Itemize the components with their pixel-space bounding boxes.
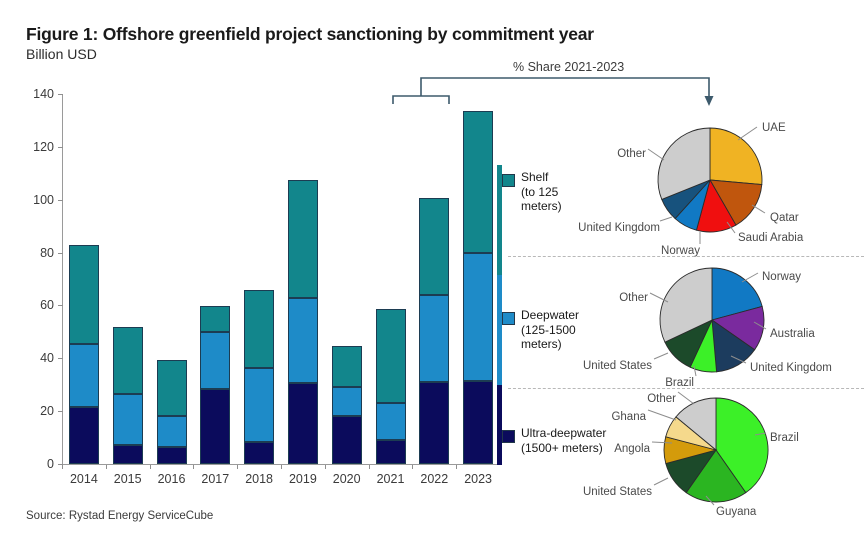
bar-segment-shelf[interactable] xyxy=(332,346,362,387)
y-axis-tick-label: 80 xyxy=(20,246,54,260)
pie-leader-line xyxy=(727,222,735,233)
pie-leader-line xyxy=(648,410,676,420)
legend-swatch xyxy=(502,430,515,443)
pie-leader-line xyxy=(654,478,668,485)
pie-slice[interactable] xyxy=(716,398,768,493)
y-axis-tick-label: 40 xyxy=(20,351,54,365)
x-axis-tick-label: 2021 xyxy=(377,472,405,486)
pie-slice[interactable] xyxy=(712,268,762,320)
pie-slice-label: Ghana xyxy=(611,411,646,423)
y-axis-tick-label: 0 xyxy=(20,457,54,471)
legend-color-strip xyxy=(497,165,502,465)
pie-leader-line xyxy=(752,205,765,213)
pie-leader-line xyxy=(738,127,757,140)
bar-group[interactable] xyxy=(419,94,449,464)
bar-segment-shelf[interactable] xyxy=(288,180,318,297)
y-axis-tick-mark xyxy=(58,253,63,254)
bar-segment-shelf[interactable] xyxy=(113,327,143,394)
y-axis-tick-mark xyxy=(58,200,63,201)
y-axis-tick-label: 60 xyxy=(20,298,54,312)
pie-slice[interactable] xyxy=(696,180,735,232)
pie-slice[interactable] xyxy=(662,180,710,219)
x-axis-tick-mark xyxy=(325,465,326,469)
y-axis-tick-mark xyxy=(58,358,63,359)
y-axis-tick-mark xyxy=(58,147,63,148)
pie-slice[interactable] xyxy=(690,320,716,372)
annotation-label: % Share 2021-2023 xyxy=(513,60,624,74)
x-axis-tick-label: 2023 xyxy=(464,472,492,486)
x-axis-tick-label: 2016 xyxy=(158,472,186,486)
pie-slice[interactable] xyxy=(658,128,710,199)
pie-slice[interactable] xyxy=(675,180,710,230)
legend-swatch xyxy=(502,174,515,187)
pie-slice-label: United States xyxy=(583,486,652,498)
y-axis-tick-label: 140 xyxy=(20,87,54,101)
pie-slice[interactable] xyxy=(710,128,762,185)
bar-segment-ultra-deepwater[interactable] xyxy=(113,445,143,464)
pie-leader-line xyxy=(754,322,766,329)
x-axis-tick-mark xyxy=(369,465,370,469)
x-axis-tick-label: 2020 xyxy=(333,472,361,486)
pie-leader-line xyxy=(652,442,672,443)
bar-segment-shelf[interactable] xyxy=(419,198,449,295)
y-axis-line xyxy=(62,94,63,464)
pie-slice-label: Norway xyxy=(661,245,700,257)
bar-group[interactable] xyxy=(463,94,493,464)
legend-label: Shelf(to 125meters) xyxy=(521,170,616,214)
bar-group[interactable] xyxy=(157,94,187,464)
bar-group[interactable] xyxy=(332,94,362,464)
bar-segment-shelf[interactable] xyxy=(157,360,187,416)
bar-segment-shelf[interactable] xyxy=(463,111,493,253)
bar-segment-shelf[interactable] xyxy=(69,245,99,344)
pie-slice[interactable] xyxy=(710,180,762,225)
legend-swatch xyxy=(502,312,515,325)
pie-slice-label: Australia xyxy=(770,328,815,340)
bar-segment-deepwater[interactable] xyxy=(157,416,187,447)
bar-segment-deepwater[interactable] xyxy=(419,295,449,382)
bar-segment-ultra-deepwater[interactable] xyxy=(200,389,230,464)
x-axis-tick-mark xyxy=(412,465,413,469)
bar-segment-deepwater[interactable] xyxy=(332,387,362,417)
legend-label: Deepwater(125-1500meters) xyxy=(521,308,616,352)
bar-segment-ultra-deepwater[interactable] xyxy=(463,381,493,464)
bar-group[interactable] xyxy=(113,94,143,464)
x-axis-tick-label: 2018 xyxy=(245,472,273,486)
x-axis-tick-mark xyxy=(193,465,194,469)
arrow-head-icon xyxy=(705,96,714,106)
y-axis-tick-mark xyxy=(58,94,63,95)
bar-segment-ultra-deepwater[interactable] xyxy=(157,447,187,464)
pie-slice-label: United Kingdom xyxy=(750,362,832,374)
pie-slice[interactable] xyxy=(665,320,712,367)
bar-group[interactable] xyxy=(376,94,406,464)
bar-group[interactable] xyxy=(244,94,274,464)
bar-segment-ultra-deepwater[interactable] xyxy=(288,383,318,464)
x-axis-tick-label: 2022 xyxy=(420,472,448,486)
pie-slice-label: United Kingdom xyxy=(578,222,660,234)
bar-segment-ultra-deepwater[interactable] xyxy=(332,416,362,464)
x-axis-tick-label: 2014 xyxy=(70,472,98,486)
x-axis-tick-mark xyxy=(150,465,151,469)
pie-leader-line xyxy=(678,392,694,404)
x-axis-tick-mark xyxy=(456,465,457,469)
pie-leader-line xyxy=(650,293,668,302)
bar-segment-ultra-deepwater[interactable] xyxy=(376,440,406,464)
bar-chart: 0204060801001201402014201520162017201820… xyxy=(0,0,540,500)
y-axis-tick-mark xyxy=(58,411,63,412)
y-axis-tick-label: 20 xyxy=(20,404,54,418)
bar-segment-deepwater[interactable] xyxy=(463,253,493,381)
x-axis-tick-label: 2017 xyxy=(201,472,229,486)
pie-leader-line xyxy=(660,217,672,221)
pie-slice-label: Saudi Arabia xyxy=(738,232,803,244)
legend-label: Ultra-deepwater(1500+ meters) xyxy=(521,426,616,455)
pie-slice-label: Brazil xyxy=(665,377,694,389)
x-axis-tick-mark xyxy=(62,465,63,469)
pie-slice-label: Other xyxy=(619,292,648,304)
bar-segment-ultra-deepwater[interactable] xyxy=(244,442,274,464)
bar-group[interactable] xyxy=(200,94,230,464)
bar-segment-ultra-deepwater[interactable] xyxy=(419,382,449,464)
bar-segment-shelf[interactable] xyxy=(376,309,406,403)
bar-segment-deepwater[interactable] xyxy=(288,298,318,383)
bar-segment-deepwater[interactable] xyxy=(69,344,99,407)
bar-segment-deepwater[interactable] xyxy=(113,394,143,445)
pie-slice-label: Other xyxy=(617,148,646,160)
bar-group[interactable] xyxy=(288,94,318,464)
pie-slice[interactable] xyxy=(712,306,764,349)
pie-slice-label: Angola xyxy=(614,443,650,455)
pie-leader-line xyxy=(742,273,758,282)
x-axis-tick-label: 2019 xyxy=(289,472,317,486)
x-axis-tick-mark xyxy=(281,465,282,469)
pie-leader-line xyxy=(654,353,668,359)
pie-slice[interactable] xyxy=(664,437,716,464)
bar-segment-deepwater[interactable] xyxy=(244,368,274,441)
bar-segment-ultra-deepwater[interactable] xyxy=(69,407,99,464)
pie-leader-line xyxy=(731,356,746,363)
source-note: Source: Rystad Energy ServiceCube xyxy=(26,510,213,522)
pie-slice-label: Norway xyxy=(762,271,801,283)
pie-slice[interactable] xyxy=(660,268,712,342)
pie-leader-line xyxy=(694,366,696,376)
pie-leader-line xyxy=(648,149,664,160)
pie-slice[interactable] xyxy=(676,398,716,450)
pie-slice-label: UAE xyxy=(762,122,786,134)
y-axis-tick-mark xyxy=(58,305,63,306)
pie-slice[interactable] xyxy=(712,320,755,372)
bar-segment-shelf[interactable] xyxy=(200,306,230,332)
bar-segment-deepwater[interactable] xyxy=(200,332,230,389)
pie-slice-label: Guyana xyxy=(716,506,756,518)
pie-slice-label: United States xyxy=(583,360,652,372)
bar-group[interactable] xyxy=(69,94,99,464)
bar-segment-deepwater[interactable] xyxy=(376,403,406,441)
x-axis-tick-label: 2015 xyxy=(114,472,142,486)
pie-slice-label: Brazil xyxy=(770,432,799,444)
pie-leader-line xyxy=(755,433,766,435)
pie-leader-line xyxy=(706,496,714,505)
y-axis-tick-label: 120 xyxy=(20,140,54,154)
pie-slice[interactable] xyxy=(686,450,746,502)
pie-slice[interactable] xyxy=(666,417,716,450)
bar-segment-shelf[interactable] xyxy=(244,290,274,368)
pie-slice-label: Qatar xyxy=(770,212,799,224)
pie-slice[interactable] xyxy=(666,450,716,493)
y-axis-tick-label: 100 xyxy=(20,193,54,207)
pie-slice-label: Other xyxy=(647,393,676,405)
x-axis-tick-mark xyxy=(106,465,107,469)
x-axis-tick-mark xyxy=(237,465,238,469)
